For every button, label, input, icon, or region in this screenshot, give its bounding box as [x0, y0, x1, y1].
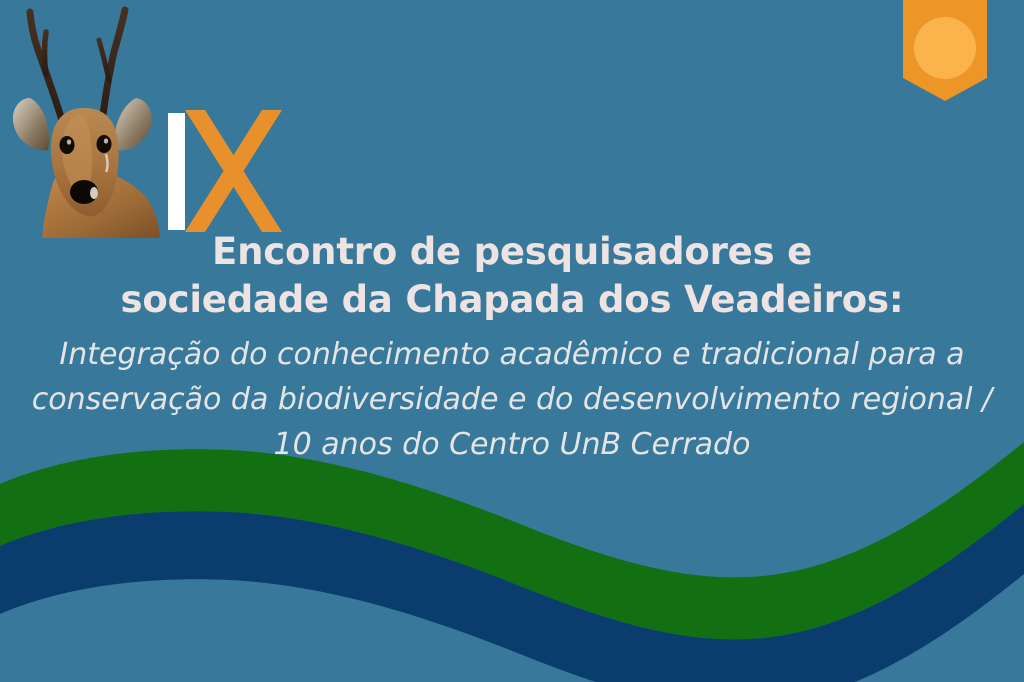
nose-highlight: [90, 187, 98, 199]
deer-icon: [8, 2, 168, 238]
eye-right-glint: [104, 138, 108, 143]
eye-left-glint: [67, 139, 71, 144]
headline-block: Encontro de pesquisadores e sociedade da…: [0, 228, 1024, 467]
event-logo: [0, 0, 300, 240]
ear-left-shape: [13, 98, 49, 150]
page-subtitle: Integração do conhecimento acadêmico e t…: [10, 332, 1014, 467]
eye-right-shape: [97, 135, 112, 153]
ribbon-icon: [903, 0, 987, 105]
eye-streak-shape: [106, 154, 108, 172]
ear-right-shape: [114, 98, 152, 151]
ribbon-badge: [903, 0, 987, 105]
roman-numeral-x: [183, 110, 283, 232]
poster-canvas: Encontro de pesquisadores e sociedade da…: [0, 0, 1024, 682]
ribbon-circle-shape: [914, 17, 976, 79]
page-title: Encontro de pesquisadores e sociedade da…: [10, 228, 1014, 324]
eye-left-shape: [60, 136, 75, 154]
